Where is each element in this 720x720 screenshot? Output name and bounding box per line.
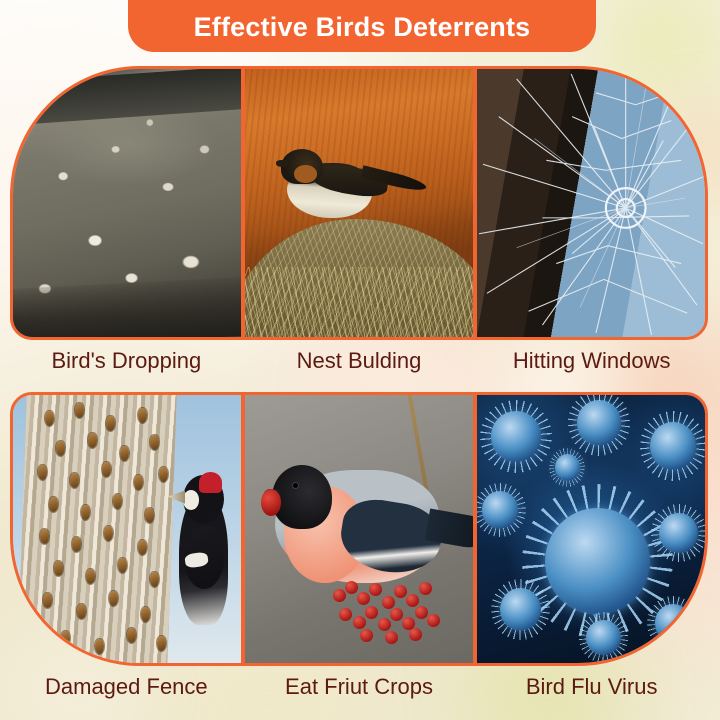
virus-particle-main xyxy=(545,508,650,615)
acorn-woodpecker-on-damaged-wooden-pole-image xyxy=(13,395,241,663)
caption-row-2: Damaged Fence Eat Friut Crops Bird Flu V… xyxy=(10,675,708,699)
bullfinch-eating-red-berries-image xyxy=(245,395,473,663)
acorn-woodpecker-shape xyxy=(170,475,238,625)
page-title: Effective Birds Deterrents xyxy=(194,11,531,41)
photo-grid-row-1 xyxy=(10,66,708,340)
caption-row-1: Bird's Dropping Nest Bulding Hitting Win… xyxy=(10,349,708,373)
virus-particle xyxy=(577,400,620,446)
photo-cell-hitting-windows xyxy=(477,69,705,337)
bird-droppings-on-car-windshield-image xyxy=(13,69,241,337)
virus-particle xyxy=(482,491,518,529)
berry-in-beak xyxy=(261,489,282,516)
virus-particle xyxy=(659,513,698,553)
barn-swallow-on-mud-nest-image xyxy=(245,69,473,337)
woodpecker-red-cap xyxy=(199,472,222,493)
product-infographic-page: Effective Birds Deterrents xyxy=(0,0,720,720)
virus-particle xyxy=(586,620,620,655)
swallow-bird-shape xyxy=(281,144,418,224)
caption-bird-flu-virus: Bird Flu Virus xyxy=(475,675,708,699)
photo-cell-eat-fruit-crops xyxy=(245,395,473,663)
nest-straw-shape xyxy=(245,267,473,337)
berry-cluster xyxy=(327,556,464,652)
bullfinch-head xyxy=(272,465,331,529)
caption-hitting-windows: Hitting Windows xyxy=(475,349,708,373)
caption-eat-fruit-crops: Eat Friut Crops xyxy=(243,675,476,699)
glass-crack-lines xyxy=(477,69,705,337)
caption-bird-droppings: Bird's Dropping xyxy=(10,349,243,373)
shattered-cracked-window-glass-image xyxy=(477,69,705,337)
virus-particle xyxy=(555,454,580,481)
photo-cell-bird-droppings xyxy=(13,69,241,337)
photo-cell-nest-building xyxy=(245,69,473,337)
woodpecker-beak xyxy=(168,490,186,504)
photo-cell-damaged-fence xyxy=(13,395,241,663)
virus-particle xyxy=(491,411,541,462)
photo-grid-row-2 xyxy=(10,392,708,666)
caption-nest-building: Nest Bulding xyxy=(243,349,476,373)
blue-virus-microscopy-image xyxy=(477,395,705,663)
virus-particle xyxy=(650,422,696,470)
swallow-beak xyxy=(276,160,288,166)
swallow-throat xyxy=(294,165,317,183)
title-banner: Effective Birds Deterrents xyxy=(128,0,596,52)
virus-particle xyxy=(655,604,691,642)
caption-damaged-fence: Damaged Fence xyxy=(10,675,243,699)
photo-cell-bird-flu-virus xyxy=(477,395,705,663)
virus-particle xyxy=(500,588,541,631)
